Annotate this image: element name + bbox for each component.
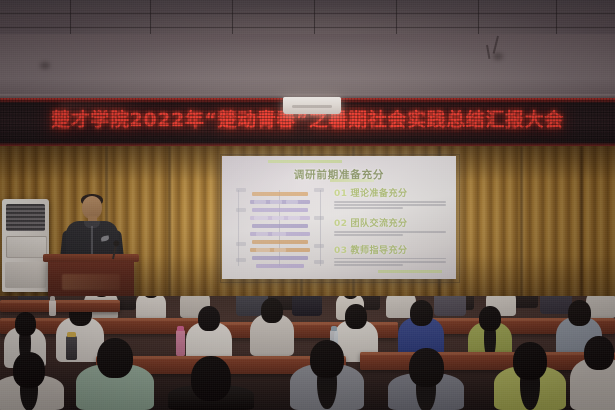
audience-head [409,348,444,387]
table-cell [254,216,268,220]
audience-head [198,306,220,331]
wall-cable [486,45,490,59]
thermos-flask-cap [67,332,76,337]
table-cell [272,232,286,236]
slide-bullet: 03教师指导充分 [334,243,446,266]
slide-bullet-list: 01理论准备充分02团队交流充分03教师指导充分 [334,186,446,273]
audience-torso [136,296,166,320]
slide-bullet-title: 教师指导充分 [351,246,408,256]
air-conditioner [2,199,49,292]
clear-water-bottle-cap [331,326,337,331]
audience-member-mid-3 [250,298,294,356]
wall-smudge [493,53,503,60]
ceiling-tile-line [478,0,479,34]
audience-member-front-0 [0,352,64,410]
table-row [252,224,308,228]
slide-bullet-heading: 01理论准备充分 [334,186,446,199]
desk-edge [0,300,120,303]
table-connector [238,190,239,266]
slide-body-line [334,261,446,263]
table-label-chip [236,188,246,192]
table-row [252,240,308,244]
slide-body-line [334,234,403,236]
audience-head [97,338,133,378]
ceiling-tile-line [556,0,557,34]
table-cell [288,216,300,220]
ceiling-tile-line [0,13,615,14]
ceiling-light-fixture [283,97,341,114]
pink-water-bottle-cap [177,326,184,331]
table-cell [256,232,268,236]
slide-accent-bar-top [268,160,342,163]
table-row [252,192,308,196]
table-label-chip [314,244,324,248]
table-cell [286,200,298,204]
audience-member-back-2 [136,296,166,320]
slide-bullet: 02团队交流充分 [334,216,446,236]
table-cell [256,248,270,252]
audience-area [0,296,615,410]
audience-head [15,312,36,336]
lecture-hall-photo: 楚才学院2022年“楚动青春”之暑期社会实践总结汇报大会 调研前期准备充分 01… [0,0,615,410]
slide-bullet-title: 团队交流充分 [351,219,408,229]
paper-cup [49,300,56,316]
slide-bullet-heading: 03教师指导充分 [334,243,446,256]
slide-body-line [334,231,446,233]
audience-head [584,336,614,370]
table-label-chip [314,188,324,192]
slide-body-line [334,207,403,209]
slide-bullet: 01理论准备充分 [334,186,446,209]
wall-cable [493,36,499,54]
table-cell [254,200,266,204]
audience-head [345,304,367,329]
ceiling-tile-line [150,0,151,34]
audience-member-front-2 [168,356,254,410]
ceiling [0,0,615,34]
audience-torso [292,296,322,316]
audience-head [568,300,591,326]
ceiling-tile-line [0,27,615,28]
slide-body-line [334,201,446,203]
audience-member-back-5 [292,296,322,316]
slide-body-line [334,204,446,206]
ceiling-highlight [0,0,615,34]
ac-control-panel [6,236,47,258]
table-label-chip [236,242,246,246]
audience-head [410,300,433,326]
table-cell [274,248,286,252]
ceiling-tile-line [70,0,71,34]
audience-head [479,306,501,331]
slide-bullet-body [334,258,446,266]
table-label-chip [314,260,324,264]
table-row [252,256,308,260]
audience-head [191,356,231,401]
projection-screen: 调研前期准备充分 01理论准备充分02团队交流充分03教师指导充分 [222,156,456,279]
slide-bullet-title: 理论准备充分 [351,189,408,199]
ceiling-tile-line [314,0,315,34]
slide-body-line [334,258,446,260]
slide-bullet-heading: 02团队交流充分 [334,216,446,229]
audience-head [13,352,45,388]
audience-member-front-1 [76,338,154,410]
pink-water-bottle [176,330,185,356]
table-cell [270,200,282,204]
audience-head [310,340,344,378]
audience-member-front-5 [494,342,566,410]
table-cell [272,216,284,220]
audience-member-front-3 [290,340,364,410]
slide-accent-bar-bottom [378,270,442,273]
slide-bullet-index: 03 [334,246,348,256]
ceiling-tile-line [232,0,233,34]
slide-bullet-index: 02 [334,219,348,229]
slide-bullet-body [334,201,446,209]
slide-title-underline [330,179,374,182]
slide-bullet-body [334,231,446,236]
slide-bullet-index: 01 [334,189,348,199]
lectern-top [43,254,139,262]
ac-grille [6,204,45,231]
table-row [252,208,308,212]
lectern-emblem [62,274,120,290]
audience-head [261,298,283,323]
paper-cup-cap [50,296,55,301]
ac-base [5,262,46,288]
table-label-chip [236,258,246,262]
audience-head [513,342,547,380]
audience-member-front-4 [388,348,464,410]
table-connector [320,190,321,266]
slide-schedule-table [236,186,324,270]
table-label-chip [236,208,246,212]
upper-wall [0,34,615,96]
audience-member-front-6 [570,336,615,410]
table-row [256,264,304,268]
ceiling-tile-line [396,0,397,34]
wall-smudge [40,62,50,69]
slide-body-line [334,264,403,266]
table-label-chip [314,216,324,220]
